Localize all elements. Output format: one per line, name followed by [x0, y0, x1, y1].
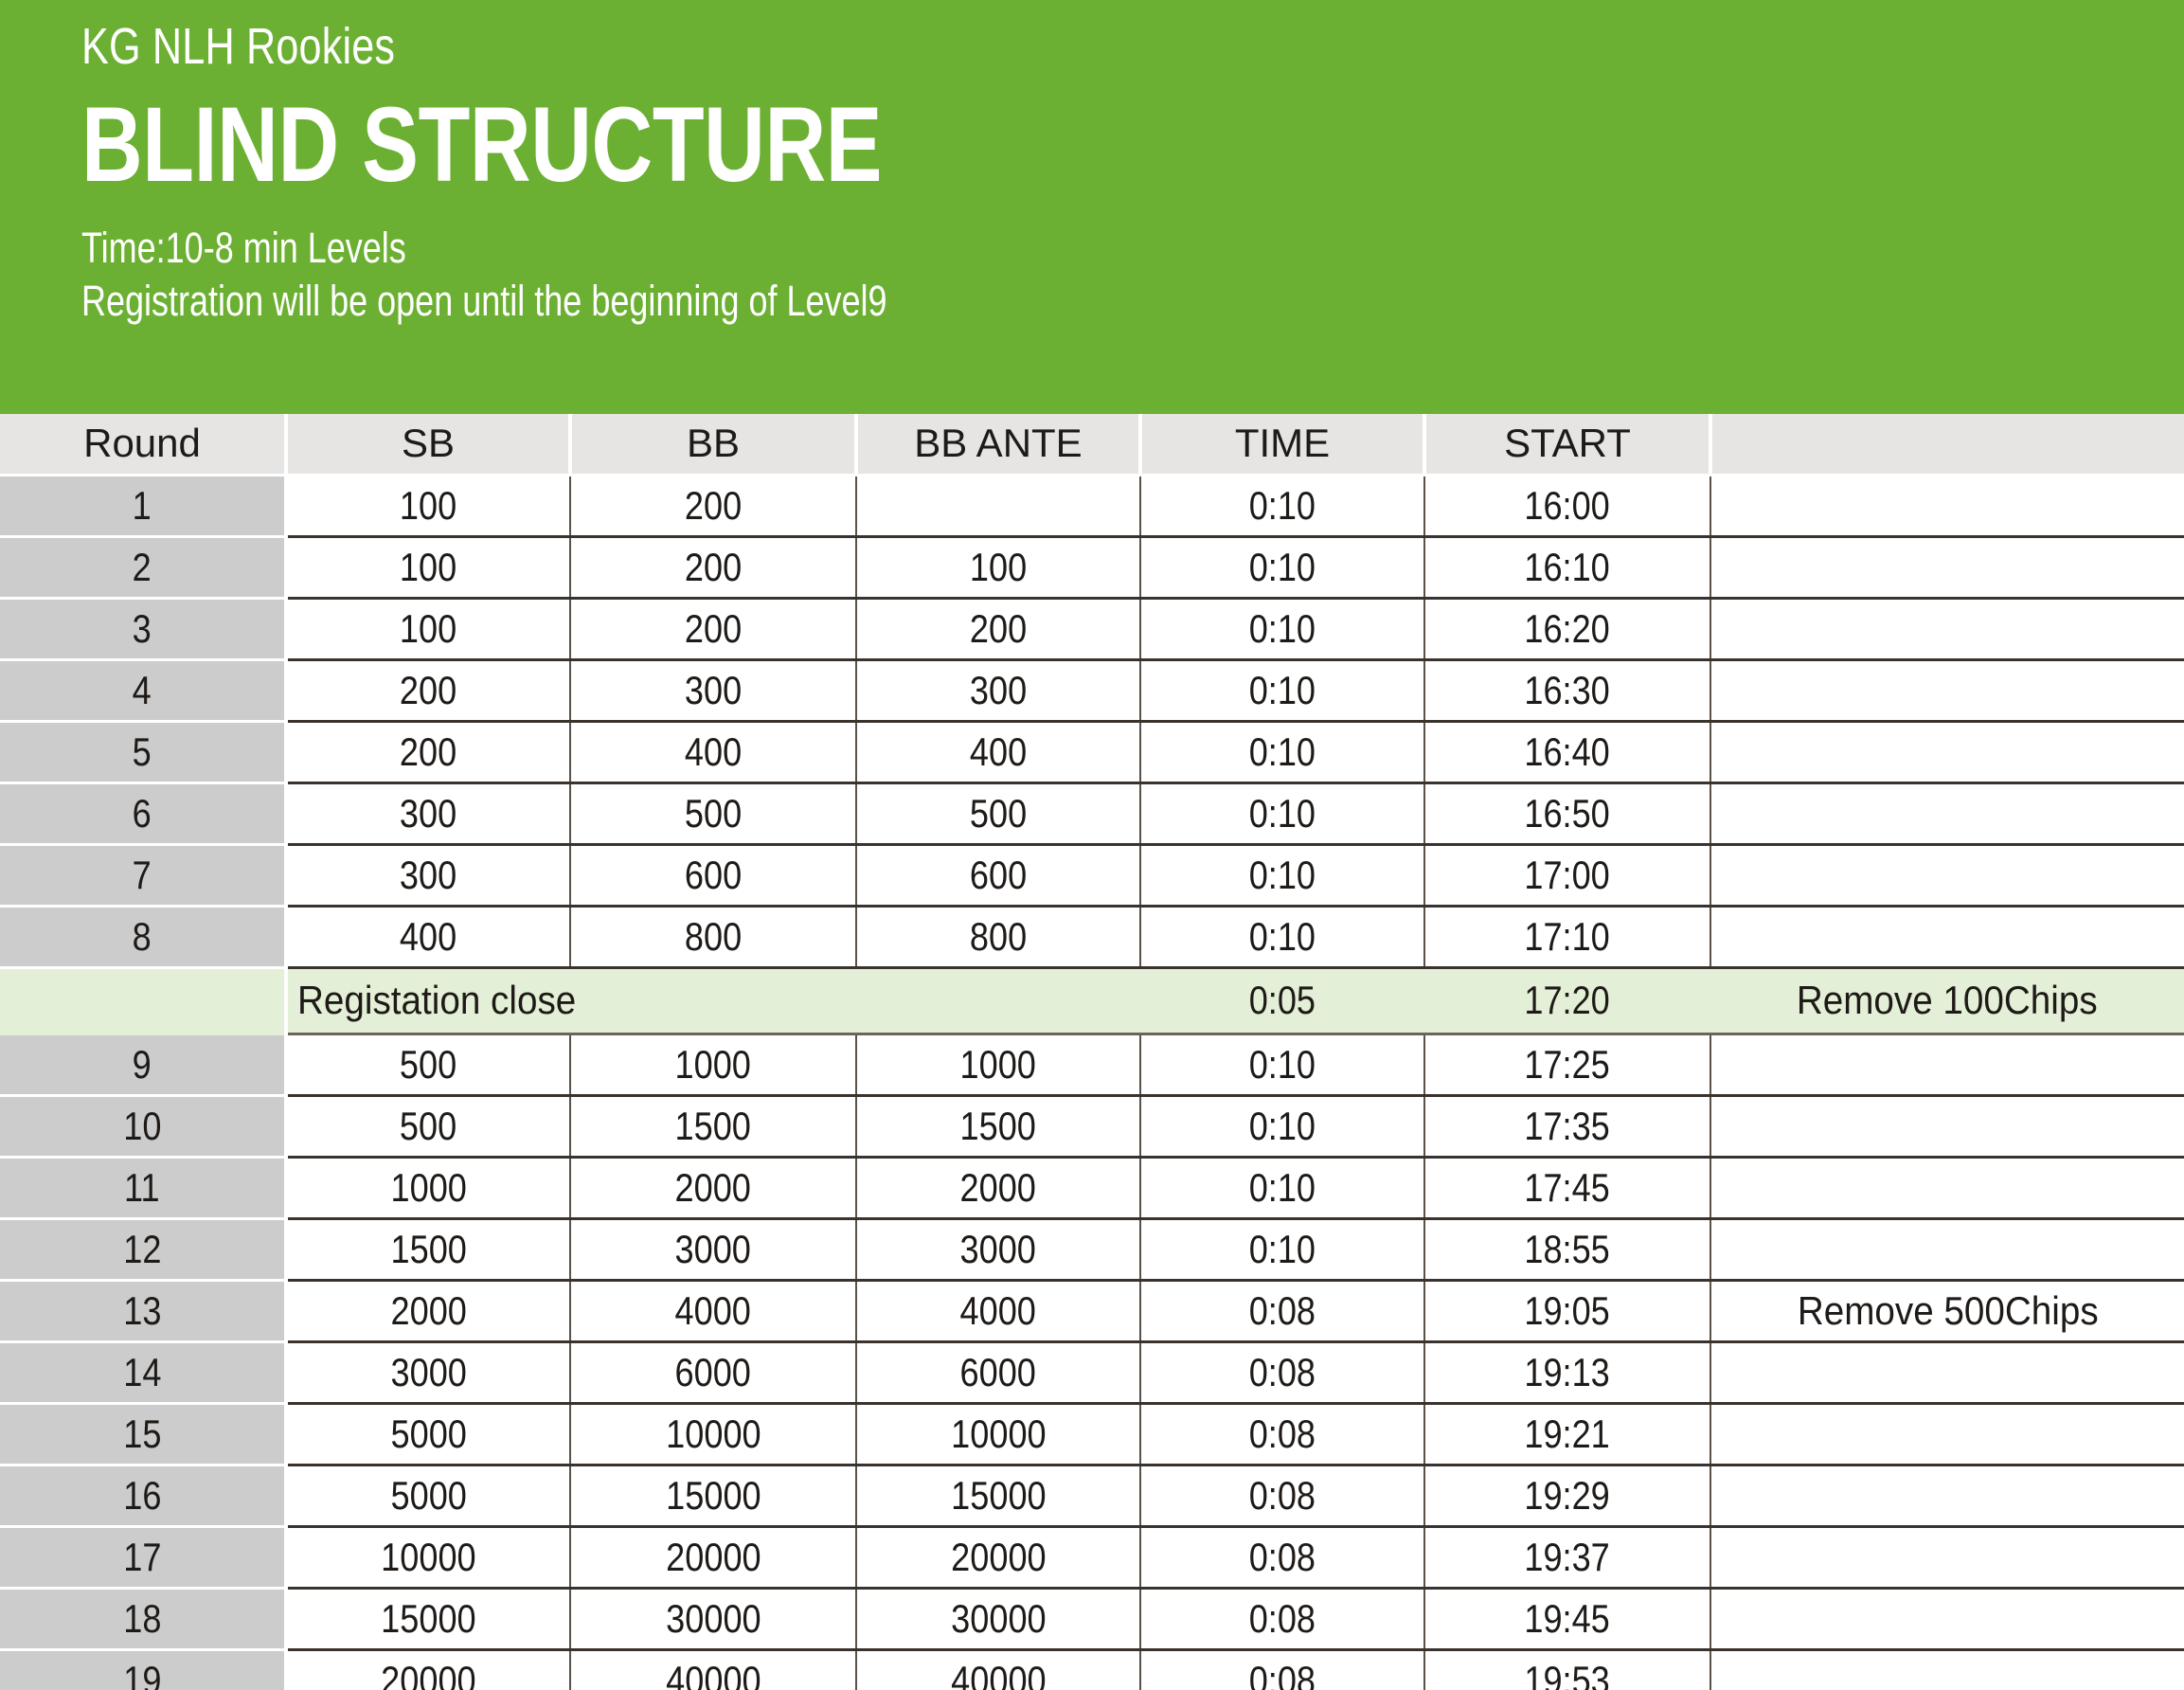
cell-start: 19:21: [1424, 1403, 1710, 1465]
column-header-sb: SB: [286, 414, 570, 475]
table-row: 63005005000:1016:50: [0, 782, 2184, 844]
cell-bb: 3000: [570, 1218, 856, 1280]
cell-ante: 100: [856, 536, 1140, 598]
cell-ante: 200: [856, 598, 1140, 659]
cell-note: Remove 500Chips: [1710, 1280, 2184, 1341]
cell-bb: 1500: [570, 1095, 856, 1157]
cell-time: 0:08: [1140, 1341, 1424, 1403]
cell-ante: 2000: [856, 1157, 1140, 1218]
cell-sb: Registation close: [286, 967, 1140, 1034]
cell-start: 19:45: [1424, 1588, 1710, 1649]
header-banner: KG NLH Rookies BLIND STRUCTURE Time:10-8…: [0, 0, 2184, 414]
page-title: BLIND STRUCTURE: [81, 83, 1763, 207]
cell-bb: 200: [570, 475, 856, 536]
cell-ante: 15000: [856, 1465, 1140, 1526]
level-time-note: Time:10-8 min Levels: [81, 222, 1763, 276]
cell-ante: [856, 475, 1140, 536]
column-header-bb-ante: BB ANTE: [856, 414, 1140, 475]
registration-note: Registration will be open until the begi…: [81, 275, 1763, 329]
cell-note: [1710, 1341, 2184, 1403]
table-row: 42003003000:1016:30: [0, 659, 2184, 721]
blind-structure-table-wrapper: Round SB BB BB ANTE TIME START 11002000:…: [0, 414, 2184, 1690]
cell-bb: 6000: [570, 1341, 856, 1403]
cell-start: 17:10: [1424, 906, 1710, 967]
column-header-bb: BB: [570, 414, 856, 475]
cell-round: 14: [0, 1341, 286, 1403]
table-row: 9500100010000:1017:25: [0, 1034, 2184, 1095]
cell-note: [1710, 844, 2184, 906]
cell-round: 5: [0, 721, 286, 782]
table-row: 121500300030000:1018:55: [0, 1218, 2184, 1280]
cell-sb: 100: [286, 475, 570, 536]
column-header-round: Round: [0, 414, 286, 475]
cell-ante: 6000: [856, 1341, 1140, 1403]
cell-start: 19:53: [1424, 1649, 1710, 1690]
cell-round: 11: [0, 1157, 286, 1218]
cell-round: 17: [0, 1526, 286, 1588]
cell-start: 19:13: [1424, 1341, 1710, 1403]
cell-note: [1710, 1403, 2184, 1465]
table-row: 31002002000:1016:20: [0, 598, 2184, 659]
cell-start: 17:20: [1424, 967, 1710, 1034]
table-row: 132000400040000:0819:05Remove 500Chips: [0, 1280, 2184, 1341]
event-name: KG NLH Rookies: [81, 17, 1763, 78]
cell-sb: 500: [286, 1095, 570, 1157]
cell-time: 0:10: [1140, 1218, 1424, 1280]
cell-sb: 300: [286, 782, 570, 844]
cell-start: 19:37: [1424, 1526, 1710, 1588]
cell-time: 0:08: [1140, 1465, 1424, 1526]
blind-structure-sheet: KG NLH Rookies BLIND STRUCTURE Time:10-8…: [0, 0, 2184, 1690]
cell-time: 0:05: [1140, 967, 1424, 1034]
cell-sb: 20000: [286, 1649, 570, 1690]
cell-round: 4: [0, 659, 286, 721]
cell-sb: 500: [286, 1034, 570, 1095]
cell-time: 0:10: [1140, 598, 1424, 659]
cell-time: 0:10: [1140, 1157, 1424, 1218]
cell-start: 16:50: [1424, 782, 1710, 844]
cell-time: 0:10: [1140, 475, 1424, 536]
cell-note: [1710, 1465, 2184, 1526]
cell-note: [1710, 1588, 2184, 1649]
column-header-start: START: [1424, 414, 1710, 475]
column-header-time: TIME: [1140, 414, 1424, 475]
cell-bb: 600: [570, 844, 856, 906]
cell-bb: 4000: [570, 1280, 856, 1341]
table-row: 52004004000:1016:40: [0, 721, 2184, 782]
cell-bb: 30000: [570, 1588, 856, 1649]
cell-time: 0:08: [1140, 1403, 1424, 1465]
cell-time: 0:10: [1140, 782, 1424, 844]
cell-sb: 300: [286, 844, 570, 906]
table-row: 111000200020000:1017:45: [0, 1157, 2184, 1218]
cell-ante: 1000: [856, 1034, 1140, 1095]
cell-ante: 4000: [856, 1280, 1140, 1341]
cell-time: 0:10: [1140, 1034, 1424, 1095]
cell-sb: 200: [286, 721, 570, 782]
table-header: Round SB BB BB ANTE TIME START: [0, 414, 2184, 475]
cell-round: 9: [0, 1034, 286, 1095]
cell-note: [1710, 721, 2184, 782]
table-row: 21002001000:1016:10: [0, 536, 2184, 598]
cell-bb: 1000: [570, 1034, 856, 1095]
cell-round: 2: [0, 536, 286, 598]
column-header-note: [1710, 414, 2184, 475]
cell-ante: 30000: [856, 1588, 1140, 1649]
cell-round: 10: [0, 1095, 286, 1157]
cell-time: 0:10: [1140, 906, 1424, 967]
cell-bb: 20000: [570, 1526, 856, 1588]
table-row: 181500030000300000:0819:45: [0, 1588, 2184, 1649]
cell-note: [1710, 1095, 2184, 1157]
cell-sb: 5000: [286, 1465, 570, 1526]
cell-bb: 10000: [570, 1403, 856, 1465]
cell-time: 0:08: [1140, 1588, 1424, 1649]
cell-note: [1710, 659, 2184, 721]
cell-sb: 3000: [286, 1341, 570, 1403]
table-row: 143000600060000:0819:13: [0, 1341, 2184, 1403]
cell-ante: 300: [856, 659, 1140, 721]
table-row: 171000020000200000:0819:37: [0, 1526, 2184, 1588]
cell-time: 0:08: [1140, 1280, 1424, 1341]
cell-note: [1710, 598, 2184, 659]
cell-start: 17:00: [1424, 844, 1710, 906]
cell-sb: 15000: [286, 1588, 570, 1649]
cell-sb: 2000: [286, 1280, 570, 1341]
cell-note: [1710, 536, 2184, 598]
table-header-row: Round SB BB BB ANTE TIME START: [0, 414, 2184, 475]
table-row: 73006006000:1017:00: [0, 844, 2184, 906]
table-row: 15500010000100000:0819:21: [0, 1403, 2184, 1465]
cell-round: 16: [0, 1465, 286, 1526]
cell-start: 16:10: [1424, 536, 1710, 598]
cell-sb: 5000: [286, 1403, 570, 1465]
cell-bb: 2000: [570, 1157, 856, 1218]
cell-note: [1710, 1649, 2184, 1690]
cell-bb: 800: [570, 906, 856, 967]
cell-start: 16:40: [1424, 721, 1710, 782]
cell-start: 18:55: [1424, 1218, 1710, 1280]
cell-start: 17:35: [1424, 1095, 1710, 1157]
cell-round: 6: [0, 782, 286, 844]
cell-sb: 1000: [286, 1157, 570, 1218]
cell-note: [1710, 782, 2184, 844]
cell-note: [1710, 1218, 2184, 1280]
table-body: 11002000:1016:0021002001000:1016:1031002…: [0, 475, 2184, 1690]
cell-bb: 500: [570, 782, 856, 844]
cell-ante: 10000: [856, 1403, 1140, 1465]
blind-structure-table: Round SB BB BB ANTE TIME START 11002000:…: [0, 414, 2184, 1690]
cell-ante: 3000: [856, 1218, 1140, 1280]
cell-time: 0:10: [1140, 1095, 1424, 1157]
cell-time: 0:10: [1140, 536, 1424, 598]
cell-round: 1: [0, 475, 286, 536]
cell-round: 18: [0, 1588, 286, 1649]
table-row: 16500015000150000:0819:29: [0, 1465, 2184, 1526]
cell-sb: 10000: [286, 1526, 570, 1588]
cell-sb: 1500: [286, 1218, 570, 1280]
cell-round: 15: [0, 1403, 286, 1465]
cell-sb: 100: [286, 536, 570, 598]
cell-time: 0:10: [1140, 721, 1424, 782]
cell-time: 0:10: [1140, 844, 1424, 906]
cell-bb: 40000: [570, 1649, 856, 1690]
table-row: 84008008000:1017:10: [0, 906, 2184, 967]
cell-ante: 500: [856, 782, 1140, 844]
cell-round: 19: [0, 1649, 286, 1690]
cell-ante: 1500: [856, 1095, 1140, 1157]
cell-round: 8: [0, 906, 286, 967]
cell-round: 13: [0, 1280, 286, 1341]
cell-time: 0:08: [1140, 1526, 1424, 1588]
cell-note: [1710, 1034, 2184, 1095]
cell-sb: 200: [286, 659, 570, 721]
cell-sb: 400: [286, 906, 570, 967]
cell-ante: 600: [856, 844, 1140, 906]
cell-note: [1710, 1526, 2184, 1588]
cell-start: 19:29: [1424, 1465, 1710, 1526]
cell-start: 16:20: [1424, 598, 1710, 659]
cell-start: 16:30: [1424, 659, 1710, 721]
cell-start: 17:45: [1424, 1157, 1710, 1218]
cell-round: 7: [0, 844, 286, 906]
cell-bb: 200: [570, 598, 856, 659]
cell-note: [1710, 1157, 2184, 1218]
cell-bb: 300: [570, 659, 856, 721]
table-row: 192000040000400000:0819:53: [0, 1649, 2184, 1690]
cell-bb: 400: [570, 721, 856, 782]
cell-time: 0:08: [1140, 1649, 1424, 1690]
cell-round: 3: [0, 598, 286, 659]
cell-note: [1710, 906, 2184, 967]
registration-close-row: Registation close0:0517:20Remove 100Chip…: [0, 967, 2184, 1034]
cell-note: Remove 100Chips: [1710, 967, 2184, 1034]
cell-bb: 15000: [570, 1465, 856, 1526]
cell-ante: 400: [856, 721, 1140, 782]
cell-start: 19:05: [1424, 1280, 1710, 1341]
table-row: 10500150015000:1017:35: [0, 1095, 2184, 1157]
cell-ante: 20000: [856, 1526, 1140, 1588]
cell-bb: 200: [570, 536, 856, 598]
cell-sb: 100: [286, 598, 570, 659]
cell-start: 16:00: [1424, 475, 1710, 536]
cell-round: 12: [0, 1218, 286, 1280]
cell-note: [1710, 475, 2184, 536]
cell-ante: 40000: [856, 1649, 1140, 1690]
cell-start: 17:25: [1424, 1034, 1710, 1095]
table-row: 11002000:1016:00: [0, 475, 2184, 536]
cell-round: [0, 967, 286, 1034]
cell-ante: 800: [856, 906, 1140, 967]
cell-time: 0:10: [1140, 659, 1424, 721]
